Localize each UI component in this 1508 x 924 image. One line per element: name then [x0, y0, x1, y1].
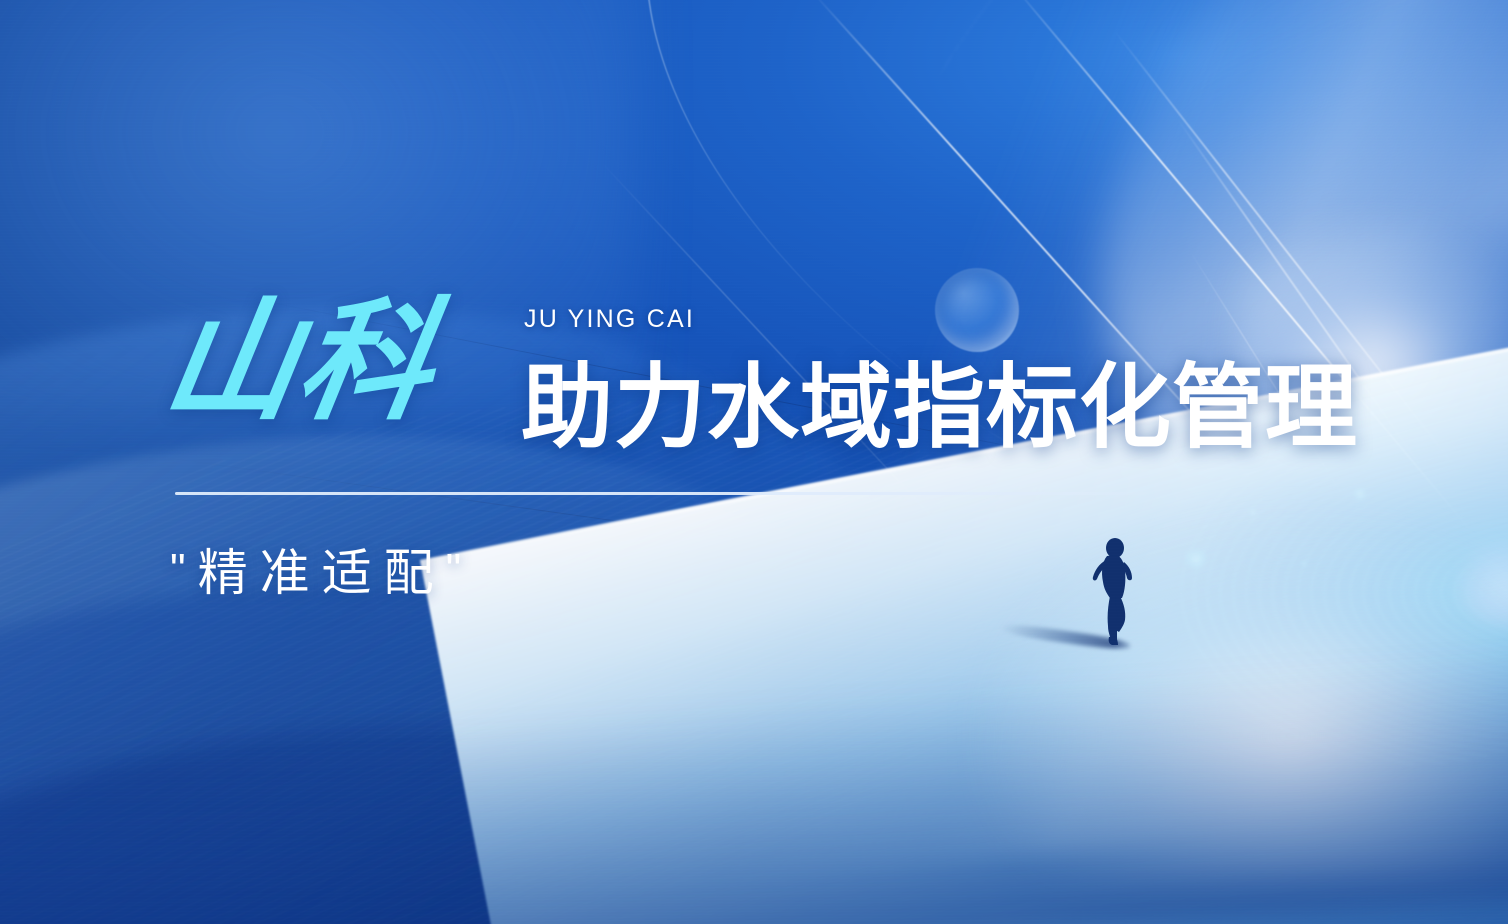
slogan-open-quote: " — [170, 545, 198, 594]
headline-text: 助力水域指标化管理 — [521, 362, 1358, 454]
slogan: "精准适配" — [170, 544, 473, 603]
brand-logo-text: 山科 — [156, 296, 445, 428]
promotional-banner: 山科 JU YING CAI 助力水域指标化管理 "精准适配" — [0, 0, 1508, 924]
slogan-text: 精准适配 — [198, 545, 446, 601]
divider-line — [175, 492, 1155, 495]
slogan-close-quote: " — [446, 545, 474, 594]
brand-pinyin: JU YING CAI — [524, 307, 695, 332]
banner-content: 山科 JU YING CAI 助力水域指标化管理 "精准适配" — [0, 0, 1508, 924]
